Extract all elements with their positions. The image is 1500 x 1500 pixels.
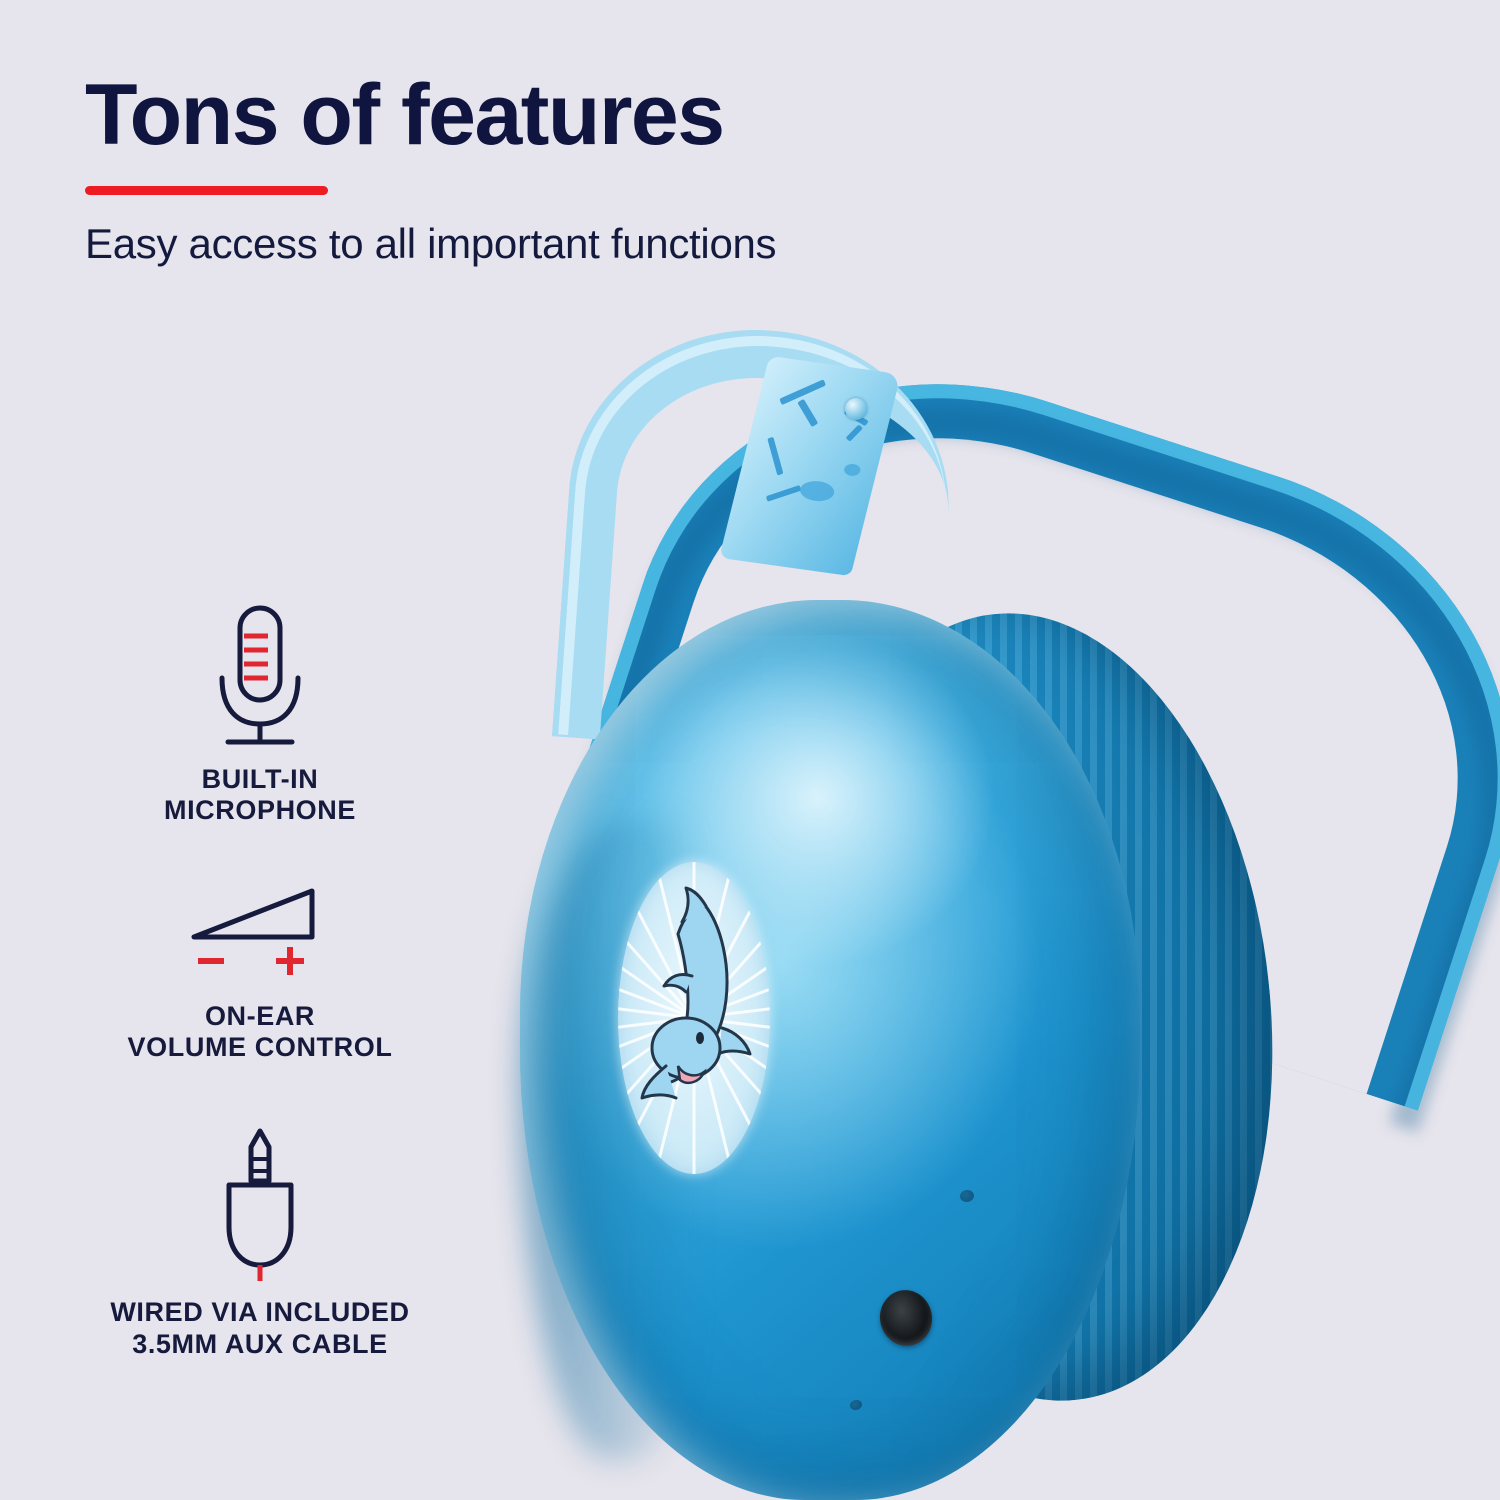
- sunburst-ray: [693, 867, 770, 1019]
- sunburst-ray: [693, 1018, 737, 1174]
- title-underline-rule: [85, 186, 328, 195]
- ear-cup: [520, 600, 1140, 1500]
- sunburst-ray: [694, 1017, 770, 1040]
- sunburst-ray: [693, 956, 770, 1019]
- feature-list: BUILT-IN MICROPHONE ON-EAR VOLUME CONTRO…: [60, 600, 460, 1360]
- header-block: Tons of features Easy access to all impo…: [85, 72, 985, 267]
- headband: [562, 300, 1500, 1111]
- sunburst-ray: [618, 867, 695, 1019]
- sunburst-ray: [693, 862, 696, 1018]
- ear-cup-shading: [520, 820, 700, 1460]
- sunburst-ray: [618, 1017, 695, 1080]
- feature-label-aux: WIRED VIA INCLUDED 3.5MM AUX CABLE: [110, 1297, 409, 1360]
- headband-yoke-arm: [552, 317, 960, 762]
- sunburst-ray: [618, 890, 695, 1019]
- sunburst-ray: [618, 956, 695, 1019]
- feature-label-microphone: BUILT-IN MICROPHONE: [164, 764, 356, 827]
- sunburst-ray: [693, 1017, 770, 1169]
- feature-label-volume: ON-EAR VOLUME CONTROL: [128, 1001, 393, 1064]
- sunburst-ray: [618, 920, 695, 1019]
- microphone-pinhole-secondary: [849, 1399, 863, 1411]
- microphone-pinhole: [959, 1189, 975, 1204]
- headband-yoke-highlight: [558, 324, 958, 761]
- sunburst-ray: [694, 996, 770, 1019]
- sunburst-ray: [693, 862, 737, 1018]
- ear-cup-highlight: [520, 600, 1140, 1500]
- sunburst-ray: [652, 862, 696, 1018]
- page-subtitle: Easy access to all important functions: [85, 221, 985, 267]
- headband-highlight: [562, 300, 1500, 1111]
- sunburst-ray: [693, 890, 770, 1019]
- aux-plug-icon: [205, 1115, 315, 1283]
- sunburst-ray: [693, 1017, 770, 1146]
- hinge-screw: [845, 398, 867, 420]
- feature-volume-control: ON-EAR VOLUME CONTROL: [60, 879, 460, 1064]
- ear-pad-rim: [780, 616, 1157, 1395]
- sunburst-ray: [693, 1018, 696, 1174]
- slider-adjuster-plate: [719, 356, 901, 576]
- volume-wedge-icon: [180, 879, 340, 987]
- ear-pad: [760, 590, 1310, 1425]
- marketing-image-canvas: Tons of features Easy access to all impo…: [0, 0, 1500, 1500]
- sunburst-ray: [618, 1017, 695, 1146]
- sunburst-ray: [618, 1017, 695, 1116]
- dolphin-icon: [626, 880, 762, 1156]
- sunburst-ray: [693, 1017, 770, 1116]
- feature-built-in-microphone: BUILT-IN MICROPHONE: [60, 600, 460, 827]
- page-title: Tons of features: [85, 72, 985, 160]
- dolphin-logo-medallion: [618, 862, 770, 1174]
- sunburst-ray: [618, 996, 694, 1019]
- microphone-icon: [200, 600, 320, 750]
- sunburst-ray: [693, 1017, 770, 1080]
- feature-aux-cable: WIRED VIA INCLUDED 3.5MM AUX CABLE: [60, 1115, 460, 1360]
- sunburst-ray: [618, 1017, 694, 1040]
- sunburst-ray: [652, 1018, 696, 1174]
- aux-port-3-5mm: [875, 1285, 938, 1351]
- headband-shadow: [562, 322, 1500, 1133]
- sunburst-ray: [693, 920, 770, 1019]
- sunburst-ray: [618, 1017, 695, 1169]
